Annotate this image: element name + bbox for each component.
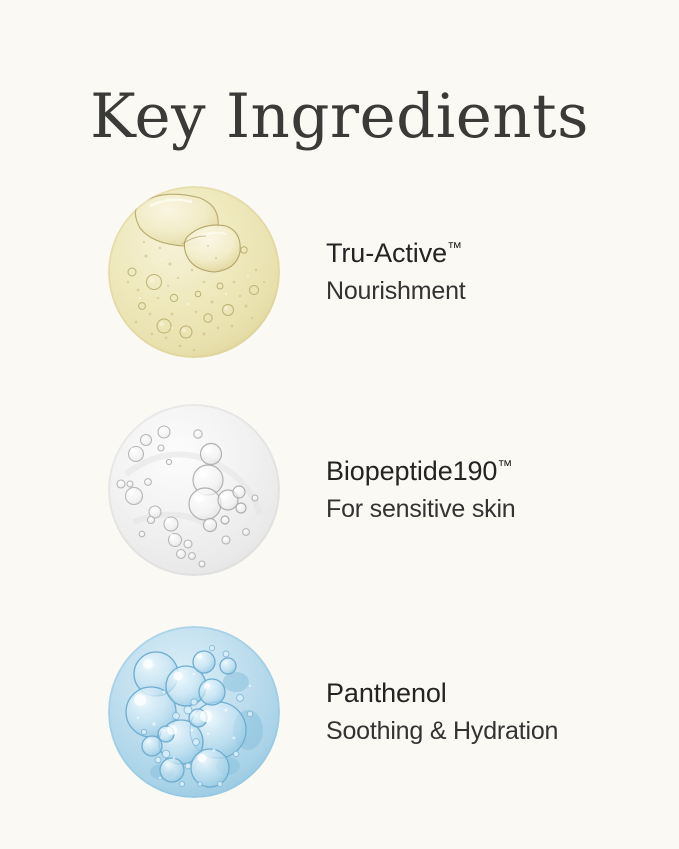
ingredient-text-2: Panthenol Soothing & Hydration (326, 622, 666, 802)
trademark-symbol: ™ (447, 239, 462, 256)
clear-serum-swatch (108, 404, 280, 576)
ingredient-row: Biopeptide190™ For sensitive skin (0, 400, 679, 580)
ingredient-description: For sensitive skin (326, 494, 666, 525)
ingredient-text-0: Tru-Active™ Nourishment (326, 182, 666, 362)
ingredient-name: Biopeptide190™ (326, 455, 666, 489)
ingredient-name: Tru-Active™ (326, 237, 666, 271)
ingredient-swatch-0 (108, 186, 280, 358)
ingredient-row: Tru-Active™ Nourishment (0, 182, 679, 362)
ingredient-swatch-1 (108, 404, 280, 576)
oil-droplet-swatch (108, 186, 280, 358)
trademark-symbol: ™ (497, 457, 512, 474)
ingredient-description: Nourishment (326, 276, 666, 307)
ingredient-description: Soothing & Hydration (326, 716, 666, 747)
ingredient-row: Panthenol Soothing & Hydration (0, 622, 679, 802)
ingredient-swatch-2 (108, 626, 280, 798)
ingredient-name: Panthenol (326, 677, 666, 711)
blue-gel-swatch (108, 626, 280, 798)
ingredient-text-1: Biopeptide190™ For sensitive skin (326, 400, 666, 580)
key-ingredients-page: Key Ingredients (0, 0, 679, 849)
page-title: Key Ingredients (0, 85, 679, 149)
